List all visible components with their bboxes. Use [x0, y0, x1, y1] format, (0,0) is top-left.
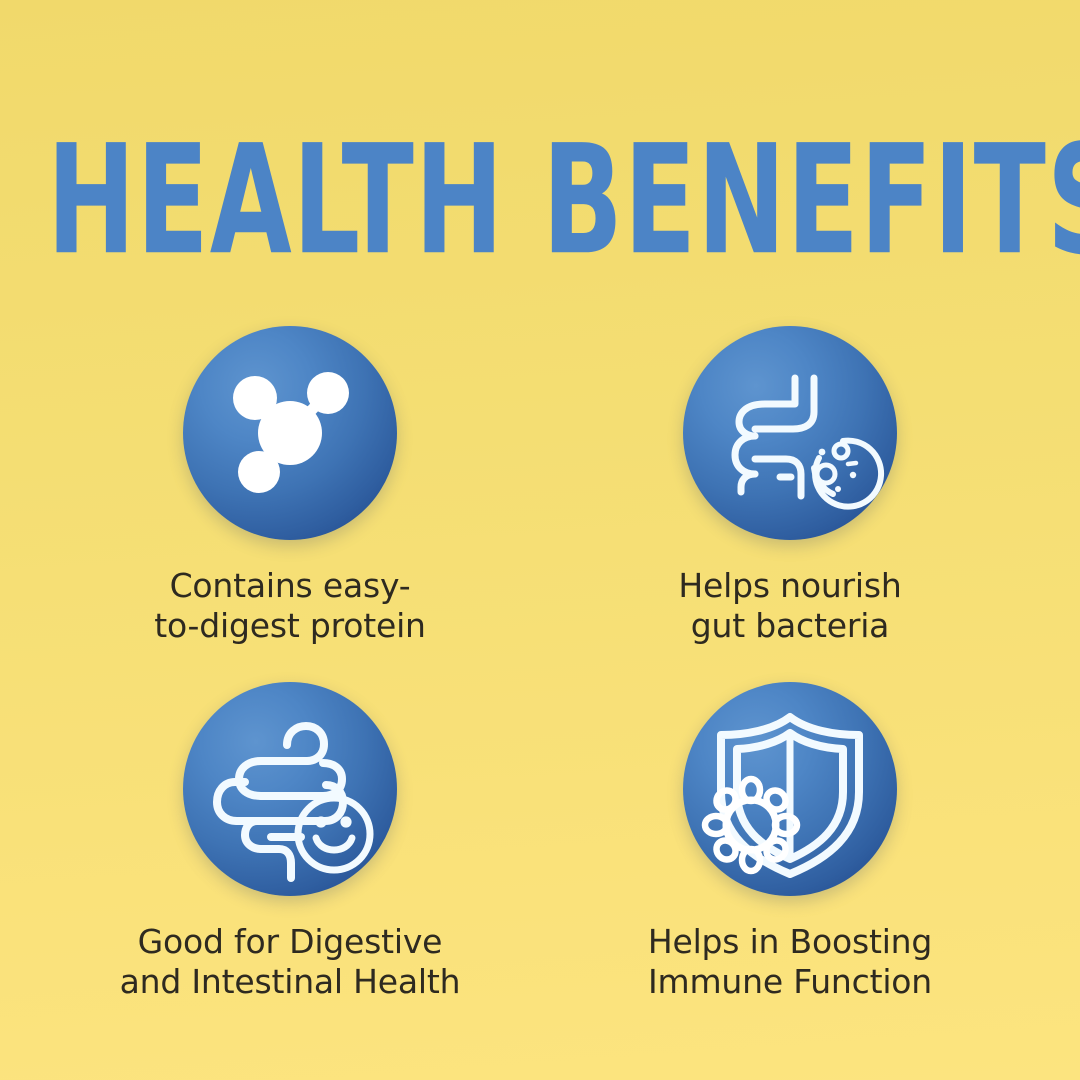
benefit-icon-badge — [183, 326, 397, 540]
molecule-protein-icon — [183, 326, 397, 540]
shield-virus-icon — [683, 682, 897, 896]
page-title: HEALTH BENEFITS — [0, 126, 1080, 254]
health-benefits-poster: HEALTH BENEFITS — [0, 0, 1080, 1080]
benefit-item-protein: Contains easy- to-digest protein — [58, 326, 522, 682]
benefit-icon-badge — [183, 682, 397, 896]
benefits-grid: Contains easy- to-digest protein — [58, 326, 1022, 1038]
benefit-item-gut-bacteria: Helps nourish gut bacteria — [558, 326, 1022, 682]
page-title-text: HEALTH BENEFITS — [47, 126, 1080, 277]
benefit-item-immune-function: Helps in Boosting Immune Function — [558, 682, 1022, 1038]
intestine-bacteria-icon — [683, 326, 897, 540]
benefit-item-digestive-health: Good for Digestive and Intestinal Health — [58, 682, 522, 1038]
benefit-caption: Contains easy- to-digest protein — [154, 566, 426, 647]
intestine-smiley-icon — [183, 682, 397, 896]
benefit-icon-badge — [683, 326, 897, 540]
smiley-face — [298, 798, 370, 870]
benefit-caption: Good for Digestive and Intestinal Health — [120, 922, 461, 1003]
benefit-icon-badge — [683, 682, 897, 896]
benefit-caption: Helps in Boosting Immune Function — [648, 922, 932, 1003]
benefit-caption: Helps nourish gut bacteria — [678, 566, 901, 647]
